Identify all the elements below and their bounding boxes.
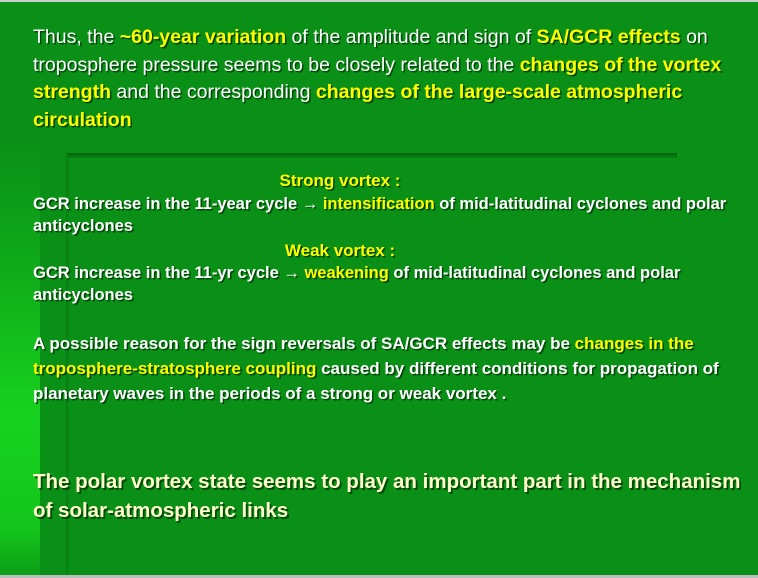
conclusion-text: The polar vortex state seems to play an … [33, 470, 740, 522]
conclusion-paragraph: The polar vortex state seems to play an … [0, 467, 758, 525]
strong-run-2: intensification [318, 195, 434, 213]
reason-paragraph: A possible reason for the sign reversals… [0, 332, 758, 407]
intro-run-2: of the amplitude and sign of [286, 26, 536, 48]
intro-paragraph: Thus, the ~60-year variation of the ampl… [0, 24, 758, 135]
weak-vortex-body: GCR increase in the 11-yr cycle → weaken… [0, 263, 758, 306]
intro-run-1: ~60-year variation [120, 26, 286, 48]
reason-run-0: A possible reason for the sign reversals… [33, 334, 575, 353]
strong-vortex-body: GCR increase in the 11-year cycle → inte… [0, 194, 758, 237]
weak-run-2: weakening [300, 264, 389, 282]
presentation-slide: Thus, the ~60-year variation of the ampl… [0, 0, 758, 578]
strong-run-0: GCR increase in the 11-year cycle [33, 195, 302, 213]
horizontal-divider-shadow [68, 153, 677, 158]
intro-run-3: SA/GCR effects [537, 26, 681, 48]
arrow-icon-weak: → [283, 264, 300, 282]
arrow-icon-strong: → [302, 195, 319, 213]
intro-run-0: Thus, the [33, 26, 120, 48]
strong-vortex-heading: Strong vortex : [0, 171, 758, 191]
weak-vortex-heading: Weak vortex : [0, 241, 758, 261]
weak-run-0: GCR increase in the 11-yr cycle [33, 264, 283, 282]
intro-run-6: and the corresponding [111, 81, 316, 103]
